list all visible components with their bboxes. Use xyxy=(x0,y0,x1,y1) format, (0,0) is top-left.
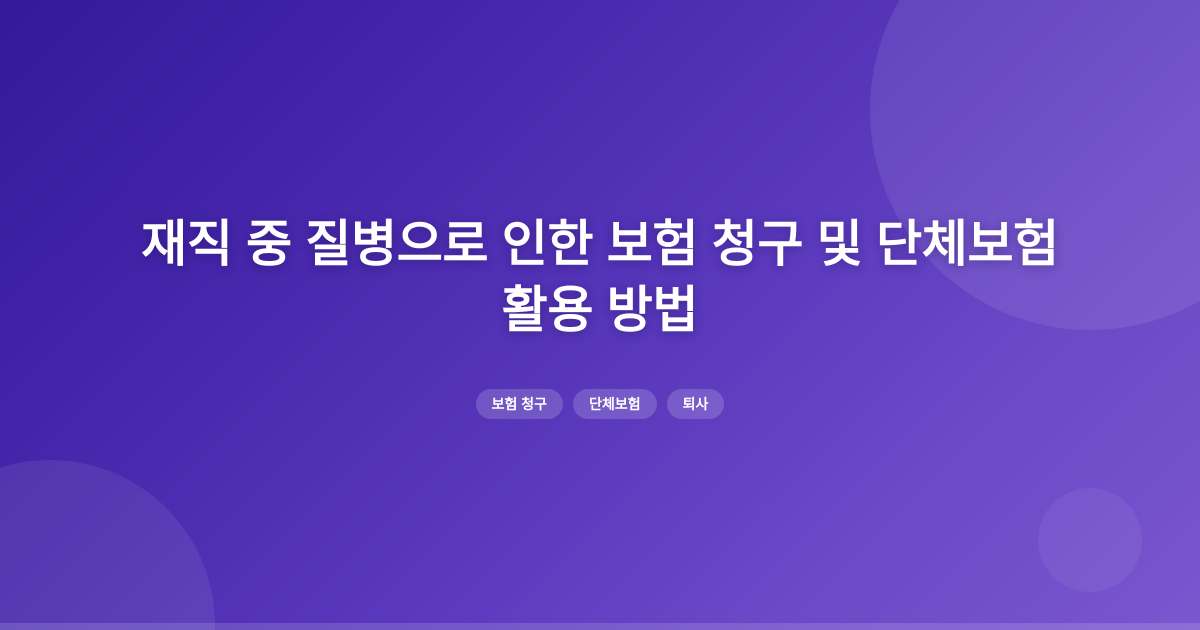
page-title-line-2: 활용 방법 xyxy=(502,282,698,338)
tag-chip[interactable]: 단체보험 xyxy=(573,389,657,419)
og-card: 재직 중 질병으로 인한 보험 청구 및 단체보험 활용 방법 보험 청구 단체… xyxy=(0,0,1200,630)
card-content: 재직 중 질병으로 인한 보험 청구 및 단체보험 활용 방법 보험 청구 단체… xyxy=(0,0,1200,630)
page-title: 재직 중 질병으로 인한 보험 청구 및 단체보험 활용 방법 xyxy=(100,211,1100,343)
tag-list: 보험 청구 단체보험 퇴사 xyxy=(476,389,725,419)
tag-chip[interactable]: 퇴사 xyxy=(667,389,725,419)
page-title-line-1: 재직 중 질병으로 인한 보험 청구 및 단체보험 xyxy=(141,216,1059,272)
tag-chip[interactable]: 보험 청구 xyxy=(476,389,563,419)
bottom-accent-band xyxy=(0,623,1200,630)
